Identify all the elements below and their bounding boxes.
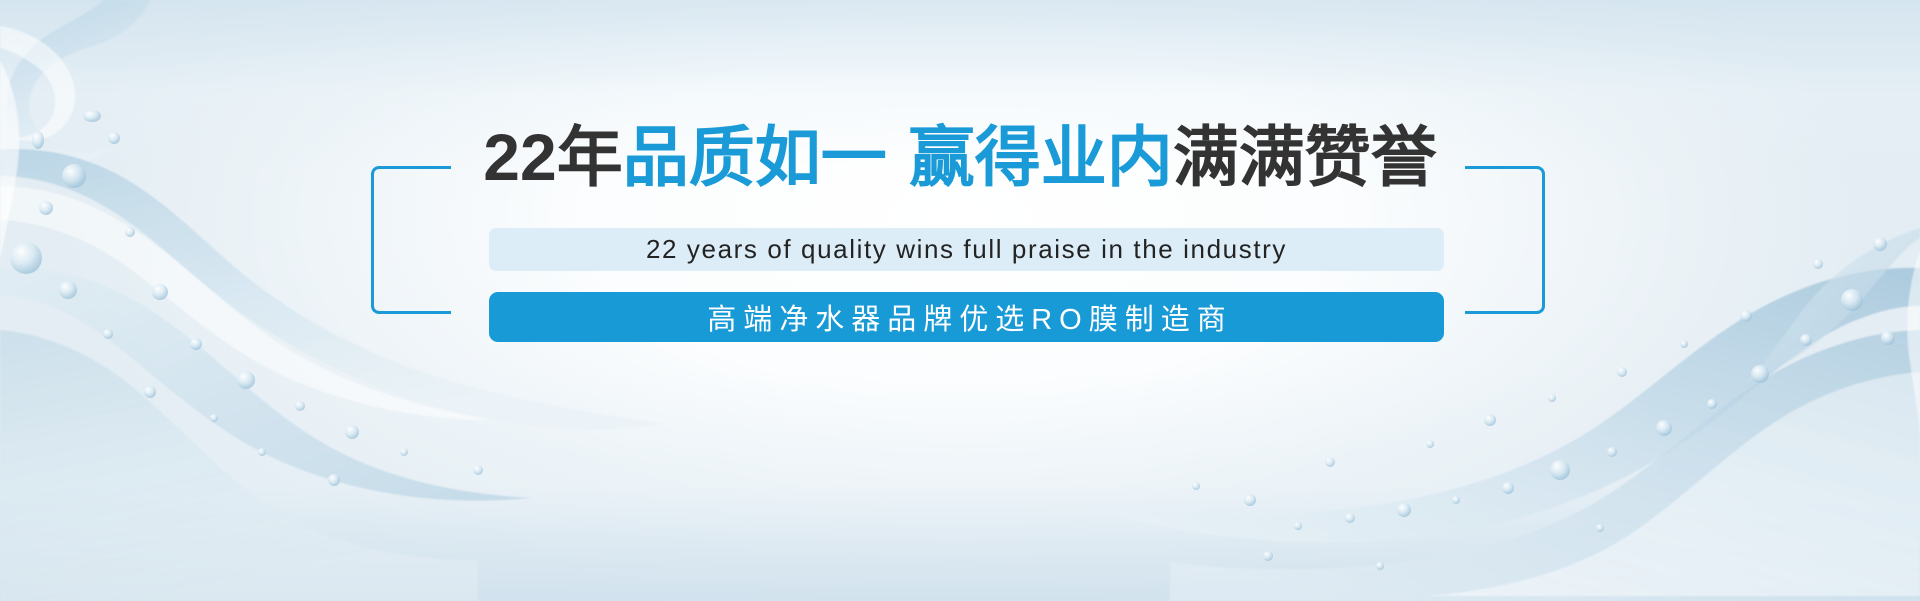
headline-seg-quality: 品质如一 [623,120,887,194]
english-subtitle-pill: 22 years of quality wins full praise in … [489,228,1444,271]
tagline-cta-pill: 高端净水器品牌优选RO膜制造商 [489,292,1444,342]
english-subtitle-text: 22 years of quality wins full praise in … [646,234,1287,265]
tagline-cta-text: 高端净水器品牌优选RO膜制造商 [700,296,1233,338]
promo-banner: 22年品质如一赢得业内满满赞誉 22 years of quality wins… [0,0,1920,601]
banner-headline: 22年品质如一赢得业内满满赞誉 [0,119,1920,195]
headline-seg-praise: 满满赞誉 [1173,120,1437,194]
headline-seg-years: 22年 [483,120,622,194]
headline-seg-win: 赢得业内 [909,120,1173,194]
banner-content: 22年品质如一赢得业内满满赞誉 22 years of quality wins… [0,0,1920,601]
